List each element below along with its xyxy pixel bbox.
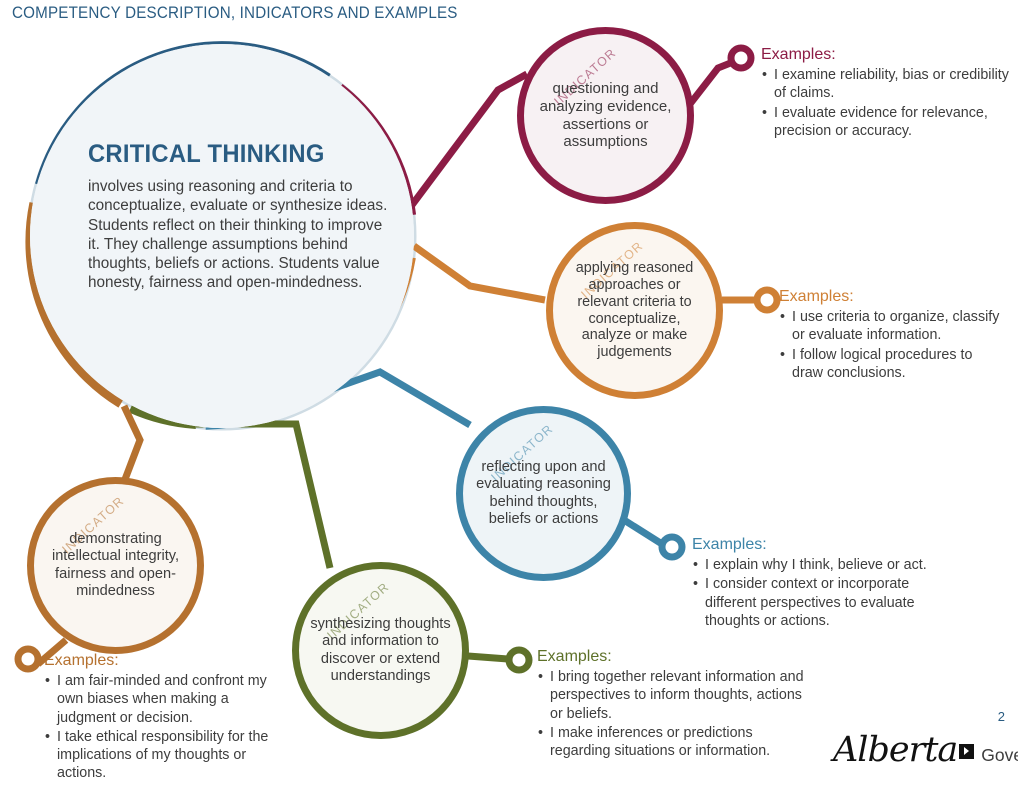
example-item: I am fair-minded and confront my own bia… [44,672,289,727]
connector-green [196,424,330,568]
examples-list: I examine reliability, bias or credibili… [761,66,1009,140]
connector-blue-to-examples [624,520,662,544]
examples-title: Examples: [537,648,812,666]
indicator-circle-reflecting-upon-and-evaluating-reasoning: INDICATOR reflecting upon and evaluating… [456,406,631,581]
examples-title: Examples: [761,46,1009,64]
central-circle-content: CRITICAL THINKING involves using reasoni… [88,140,388,293]
example-item: I explain why I think, believe or act. [692,556,957,574]
indicator-circle-demonstrating-intellectual-integrity: INDICATOR demonstrating intellectual int… [27,477,204,654]
connector-orange [414,246,545,300]
indicator-circle-applying-reasoned-approaches: INDICATOR applying reasoned approaches o… [546,222,723,399]
alberta-government-logo: Alberta Government [833,733,1018,768]
endpoint-marker-blue [662,537,682,557]
examples-list: I use criteria to organize, classify or … [779,308,1004,382]
endpoint-marker-brown [18,649,38,669]
indicator-text: reflecting upon and evaluating reasoning… [463,459,624,528]
example-item: I bring together relevant information an… [537,668,812,723]
page-number: 2 [998,709,1005,724]
government-label: Government [981,745,1018,766]
endpoint-marker-green [509,650,529,670]
competency-description: involves using reasoning and criteria to… [88,177,388,293]
examples-block-applying-reasoned-approaches: Examples: I use criteria to organize, cl… [779,288,1004,383]
indicator-circle-questioning-and-analyzing-evidence: INDICATOR questioning and analyzing evid… [517,27,694,204]
example-item: I examine reliability, bias or credibili… [761,66,1009,103]
competency-diagram: COMPETENCY DESCRIPTION, INDICATORS AND E… [0,0,1018,794]
examples-block-synthesizing-thoughts-and-information: Examples: I bring together relevant info… [537,648,812,761]
example-item: I evaluate evidence for relevance, preci… [761,104,1009,141]
example-item: I make inferences or predictions regardi… [537,724,812,761]
indicator-text: applying reasoned approaches or relevant… [553,260,716,362]
example-item: I consider context or incorporate differ… [692,575,957,630]
examples-list: I am fair-minded and confront my own bia… [44,672,289,783]
example-item: I follow logical procedures to draw conc… [779,346,1004,383]
endpoint-marker-maroon [731,48,751,68]
connector-brown [124,406,140,482]
endpoint-marker-orange [757,290,777,310]
competency-heading: CRITICAL THINKING [88,140,373,169]
examples-block-reflecting-upon-and-evaluating-reasoning: Examples: I explain why I think, believe… [692,536,957,631]
indicator-text: synthesizing thoughts and information to… [299,616,462,685]
indicator-text: demonstrating intellectual integrity, fa… [34,531,197,600]
examples-title: Examples: [692,536,957,554]
examples-list: I bring together relevant information an… [537,668,812,760]
alberta-flag-icon [959,744,974,759]
examples-title: Examples: [44,652,289,670]
connector-maroon [412,74,527,205]
example-item: I use criteria to organize, classify or … [779,308,1004,345]
indicator-text: questioning and analyzing evidence, asse… [524,80,687,151]
alberta-wordmark: Alberta [833,733,957,768]
central-competency-circle: CRITICAL THINKING involves using reasoni… [30,44,414,428]
examples-block-demonstrating-intellectual-integrity: Examples: I am fair-minded and confront … [44,652,289,784]
example-item: I take ethical responsibility for the im… [44,728,289,783]
examples-block-questioning-and-analyzing-evidence: Examples: I examine reliability, bias or… [761,46,1009,141]
connector-green-to-examples [468,656,508,659]
examples-list: I explain why I think, believe or act. I… [692,556,957,630]
examples-title: Examples: [779,288,1004,306]
indicator-circle-synthesizing-thoughts-and-information: INDICATOR synthesizing thoughts and info… [292,562,469,739]
